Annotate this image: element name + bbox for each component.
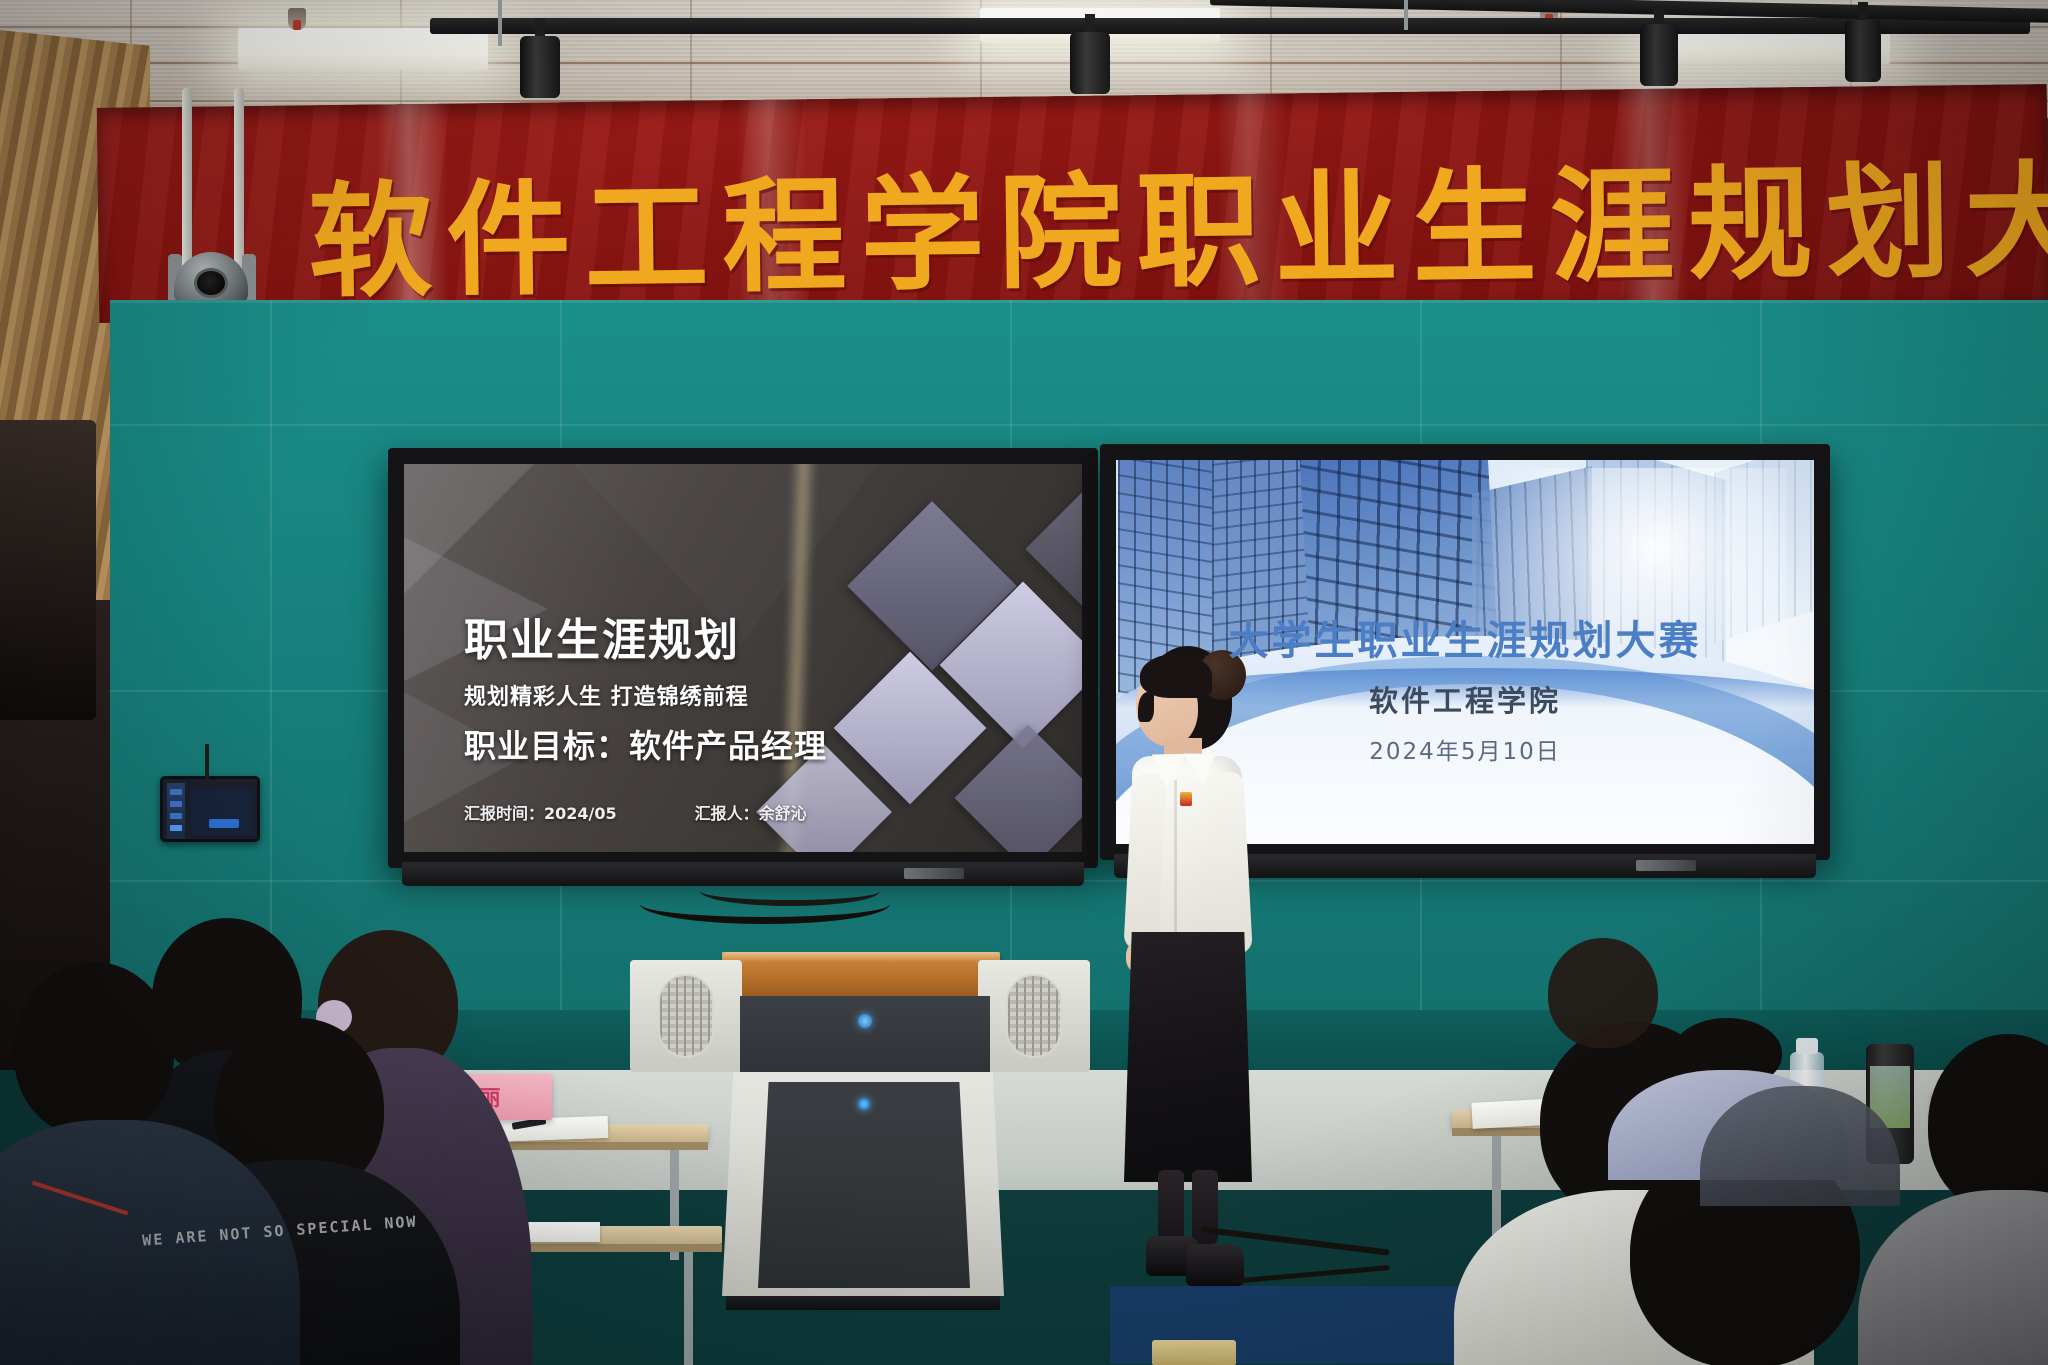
lectern-upper-panel (740, 996, 990, 1074)
track-spotlight (520, 18, 560, 104)
right-slide-date: 2024年5月10日 (1116, 732, 1814, 766)
audience-head (14, 962, 174, 1137)
left-display[interactable]: 职业生涯规划 规划精彩人生 打造锦绣前程 职业目标：软件产品经理 汇报时间：20… (388, 448, 1098, 868)
fire-sprinkler-icon (288, 8, 306, 30)
left-slide-subtitle: 规划精彩人生 打造锦绣前程 (464, 679, 1024, 711)
lectern-front-panel (758, 1082, 970, 1288)
presenter-skirt (1124, 932, 1252, 1182)
lecture-hall-scene: 软件工程学院职业生涯规划大赛 (0, 0, 2048, 1365)
control-panel-cable (205, 744, 209, 780)
speaker-grille-icon (1006, 974, 1062, 1058)
left-slide-meta: 汇报时间：2024/05 汇报人：余舒沁 (464, 800, 1064, 824)
lectern-speaker-left (630, 960, 742, 1072)
left-slide-presenter: 汇报人：余舒沁 (695, 800, 807, 824)
right-slide-organization: 软件工程学院 (1116, 678, 1814, 720)
ceiling-panel-light-1 (238, 28, 488, 70)
audience-head (1548, 938, 1658, 1048)
track-spotlight (1640, 6, 1678, 90)
left-slide-report-time: 汇报时间：2024/05 (464, 800, 617, 824)
track-spotlight (1070, 14, 1110, 98)
light-hang-rod (1404, 0, 1408, 30)
light-hang-rod (498, 0, 502, 46)
display-cable (700, 876, 880, 906)
banner-text: 软件工程学院职业生涯规划大赛 (307, 118, 2048, 322)
left-door (0, 420, 96, 720)
right-slide-title: 大学生职业生涯规划大赛 (1116, 608, 1814, 666)
floor-object (1152, 1340, 1236, 1365)
lectern-base (726, 1296, 1000, 1310)
left-slide-text-block: 职业生涯规划 规划精彩人生 打造锦绣前程 职业目标：软件产品经理 (464, 616, 1024, 767)
audience-shoulders (1858, 1190, 2048, 1365)
lectern-wood-top (722, 952, 1000, 996)
event-banner: 软件工程学院职业生涯规划大赛 (97, 84, 2048, 323)
track-spotlight (1845, 2, 1881, 82)
lighting-truss (430, 18, 2030, 34)
presenter-leg (1158, 1170, 1184, 1244)
left-slide-goal: 职业目标：软件产品经理 (464, 721, 1024, 767)
wall-control-panel[interactable] (160, 776, 260, 842)
lectern-speaker-right (978, 960, 1090, 1072)
lectern-lock-icon (858, 1098, 870, 1110)
left-slide: 职业生涯规划 规划精彩人生 打造锦绣前程 职业目标：软件产品经理 汇报时间：20… (404, 464, 1082, 852)
presenter-badge (1180, 792, 1192, 806)
lectern-power-led (858, 1014, 872, 1028)
speaker-grille-icon (658, 974, 714, 1058)
left-slide-title: 职业生涯规划 (464, 616, 1024, 667)
